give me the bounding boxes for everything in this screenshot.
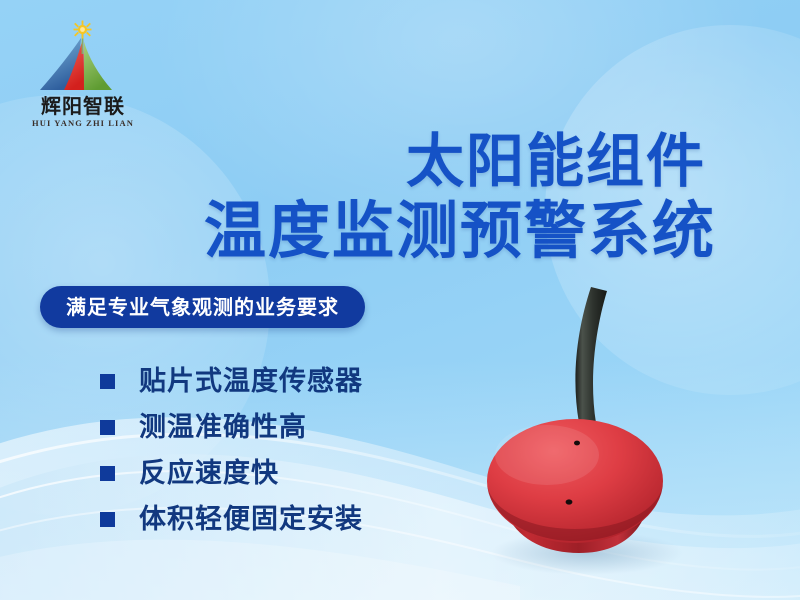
list-item: 反应速度快 [100, 450, 500, 496]
headline-line-2: 温度监测预警系统 [0, 200, 720, 262]
promotional-banner: 辉阳智联 HUI YANG ZHI LIAN 太阳能组件 温度监测预警系统 满足… [0, 0, 800, 600]
subtitle-badge-label: 满足专业气象观测的业务要求 [66, 297, 339, 317]
sun-over-sails-logo-icon [26, 20, 136, 98]
subtitle-badge: 满足专业气象观测的业务要求 [40, 286, 365, 328]
list-item: 体积轻便固定安装 [100, 496, 500, 542]
feature-label: 测温准确性高 [139, 414, 307, 441]
feature-label: 贴片式温度传感器 [139, 368, 363, 395]
square-bullet-icon [100, 374, 115, 389]
company-logo[interactable]: 辉阳智联 HUI YANG ZHI LIAN [18, 20, 148, 132]
feature-label: 体积轻便固定安装 [139, 506, 363, 533]
logo-company-name: 辉阳智联 [18, 96, 148, 116]
feature-label: 反应速度快 [139, 460, 279, 487]
list-item: 贴片式温度传感器 [100, 358, 500, 404]
square-bullet-icon [100, 420, 115, 435]
headline-line-1: 太阳能组件 [0, 132, 720, 190]
feature-list: 贴片式温度传感器 测温准确性高 反应速度快 体积轻便固定安装 [100, 358, 500, 542]
square-bullet-icon [100, 466, 115, 481]
red-dome-temperature-sensor-photo [455, 285, 800, 600]
list-item: 测温准确性高 [100, 404, 500, 450]
headline-block: 太阳能组件 温度监测预警系统 [0, 132, 720, 262]
logo-company-pinyin: HUI YANG ZHI LIAN [18, 119, 148, 128]
square-bullet-icon [100, 512, 115, 527]
